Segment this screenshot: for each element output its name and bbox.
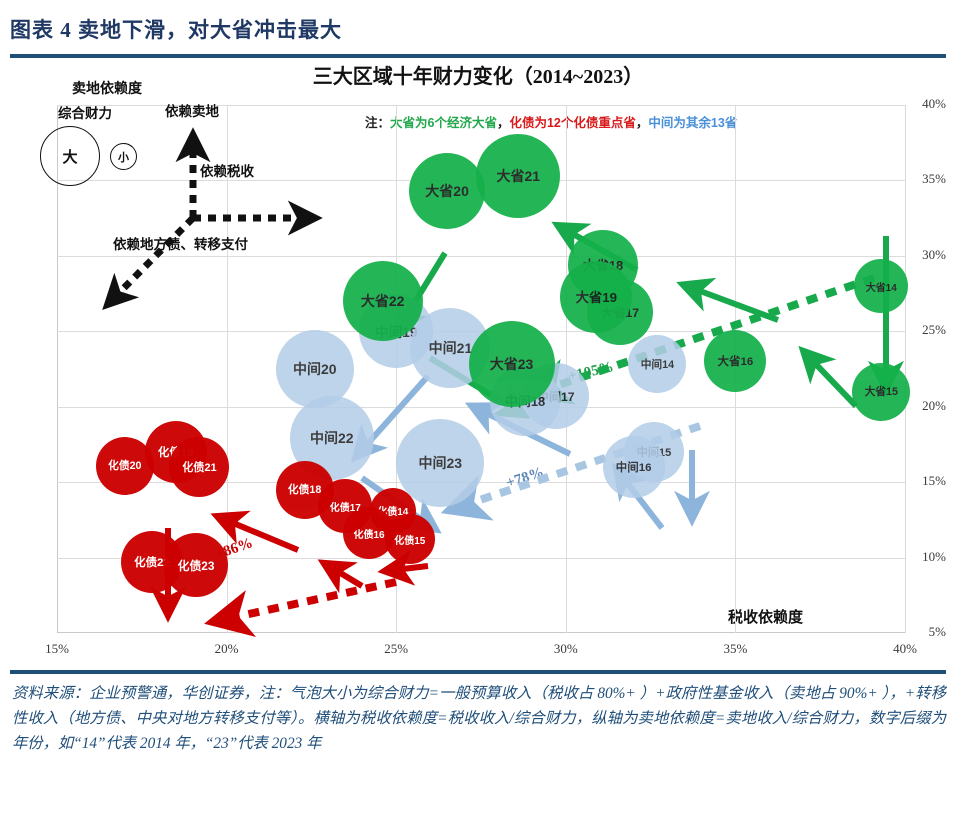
bubble-label: 中间16 bbox=[616, 459, 652, 475]
bubble-label: 大省21 bbox=[497, 166, 541, 186]
legend-key: 综合财力 大 小 依赖卖地 依赖税收 依赖地方债、转移支付 bbox=[30, 76, 350, 266]
bubble-label: 化债17 bbox=[330, 499, 361, 514]
x-axis-tick: 15% bbox=[27, 641, 87, 657]
key-size-label: 综合财力 bbox=[58, 102, 112, 122]
y-axis-tick: 10% bbox=[906, 549, 946, 565]
figure-page: 图表 4 卖地下滑，对大省冲击最大 三大区域十年财力变化（2014~2023） … bbox=[0, 0, 956, 821]
bubble-label: 中间23 bbox=[418, 453, 462, 473]
key-down-label: 依赖地方债、转移支付 bbox=[113, 233, 248, 253]
bubble-label: 中间22 bbox=[310, 428, 354, 448]
bubble-label: 中间21 bbox=[429, 338, 473, 358]
bubble-size-small-label: 小 bbox=[118, 149, 129, 165]
bubble-大省14[interactable]: 大省14 bbox=[854, 259, 908, 313]
figure-header: 图表 4 卖地下滑，对大省冲击最大 bbox=[10, 14, 946, 56]
y-axis-tick: 5% bbox=[906, 624, 946, 640]
bubble-label: 化债21 bbox=[182, 459, 217, 475]
bubble-label: 中间14 bbox=[641, 357, 674, 372]
bubble-化债20[interactable]: 化债20 bbox=[96, 437, 154, 495]
bubble-label: 化债23 bbox=[178, 557, 215, 574]
bubble-大省20[interactable]: 大省20 bbox=[409, 153, 485, 229]
bubble-大省19[interactable]: 大省19 bbox=[560, 261, 632, 333]
key-right-label: 依赖税收 bbox=[200, 160, 254, 180]
bubble-label: 大省16 bbox=[718, 353, 754, 369]
gridline-horizontal bbox=[57, 407, 905, 408]
bubble-大省23[interactable]: 大省23 bbox=[469, 321, 555, 407]
y-axis-tick: 40% bbox=[906, 96, 946, 112]
bubble-label: 化债20 bbox=[108, 458, 141, 473]
y-axis-tick: 15% bbox=[906, 473, 946, 489]
key-up-label: 依赖卖地 bbox=[165, 100, 219, 120]
x-axis-tick: 25% bbox=[366, 641, 426, 657]
footer-rule bbox=[10, 670, 946, 674]
bubble-label: 大省14 bbox=[866, 279, 897, 294]
bubble-size-large-icon: 大 bbox=[40, 126, 100, 186]
bubble-size-small-icon: 小 bbox=[110, 143, 137, 170]
bubble-label: 大省15 bbox=[865, 384, 898, 399]
bubble-label: 化债15 bbox=[394, 532, 425, 547]
figure-footnote: 资料来源：企业预警通，华创证券，注：气泡大小为综合财力=一般预算收入（税收占 8… bbox=[12, 682, 946, 756]
y-axis-tick: 30% bbox=[906, 247, 946, 263]
x-axis-tick: 35% bbox=[705, 641, 765, 657]
bubble-化债18[interactable]: 化债18 bbox=[276, 461, 334, 519]
x-axis-tick: 30% bbox=[536, 641, 596, 657]
bubble-label: 化债18 bbox=[288, 482, 321, 497]
bubble-中间16[interactable]: 中间16 bbox=[603, 436, 665, 498]
bubble-size-large-label: 大 bbox=[62, 146, 77, 167]
figure-title: 图表 4 卖地下滑，对大省冲击最大 bbox=[10, 14, 946, 44]
bubble-label: 大省23 bbox=[490, 354, 534, 374]
bubble-label: 大省19 bbox=[576, 287, 617, 306]
bubble-化债23[interactable]: 化债23 bbox=[164, 533, 228, 597]
y-axis-tick: 25% bbox=[906, 322, 946, 338]
x-axis-tick: 40% bbox=[875, 641, 935, 657]
bubble-大省22[interactable]: 大省22 bbox=[343, 261, 423, 341]
x-axis-tick: 20% bbox=[197, 641, 257, 657]
bubble-label: 大省22 bbox=[361, 291, 405, 311]
bubble-大省21[interactable]: 大省21 bbox=[476, 134, 560, 218]
bubble-中间23[interactable]: 中间23 bbox=[396, 419, 484, 507]
bubble-label: 大省20 bbox=[425, 181, 469, 201]
bubble-label: 中间20 bbox=[293, 359, 337, 379]
y-axis-tick: 20% bbox=[906, 398, 946, 414]
y-axis-tick: 35% bbox=[906, 171, 946, 187]
bubble-大省15[interactable]: 大省15 bbox=[852, 363, 910, 421]
chart-container: 三大区域十年财力变化（2014~2023） 卖地依赖度 税收依赖度 注：大省为6… bbox=[10, 58, 946, 668]
